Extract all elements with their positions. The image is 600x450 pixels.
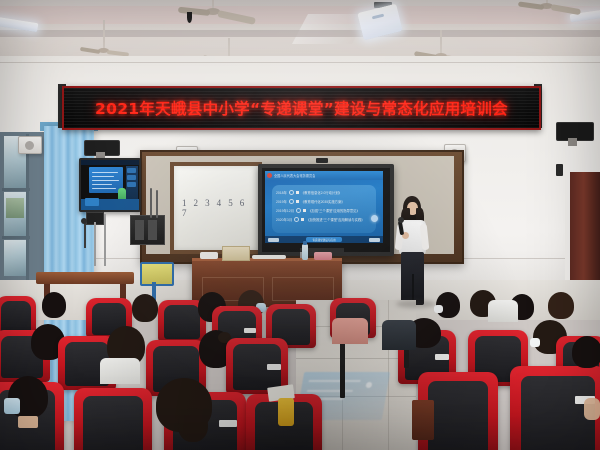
chair-support-post [340,340,345,398]
monitor-text-line [92,176,114,177]
slide-row-bullet-icon [296,208,301,213]
panel-footer-right-chip[interactable] [369,238,380,242]
window-mullion-h2 [2,236,30,239]
rack-slot [148,220,157,240]
monitor-text-line [92,172,118,173]
ceiling-tint [0,6,600,24]
chair-row-c[interactable] [74,388,152,450]
equipment-rack [130,215,165,245]
chair-cushion [428,381,488,450]
panel-top-camera-icon [316,158,328,163]
cable-bundle [150,188,152,218]
monitor-text-line [92,180,119,181]
head-hair [42,292,66,318]
presenter [392,196,436,308]
wall-speaker-left [18,136,42,154]
remote-classroom-monitor[interactable] [79,158,141,212]
camera-mount-right [568,138,577,146]
rack-slot [135,220,144,240]
slide-row: 2020年3月 《加快推进“三个课堂”应用解读与实践》 [272,215,376,224]
slide-row-text: 《加强“三个课堂”应用的指导意见》 [308,208,360,213]
floor-shadow-presenter [396,300,436,308]
podium-water-bottle [302,244,308,260]
reflection-text-line [307,390,353,392]
window-mullion-h [2,188,30,191]
slide-row-year: 2020年3月 [276,217,292,222]
monitor-sidebar-button[interactable] [127,168,136,173]
mic-stand-head-icon [81,218,87,224]
audience-hand [584,398,600,420]
slide-row-text: 《教育信息化2.0行动计划》 [301,190,342,195]
audience-torso [488,300,518,322]
speaker-cone-left [25,141,34,150]
window-pane-bottom [4,240,26,276]
chair-cushion [164,305,200,339]
slide-title-bar: 全国人民代表大会常务委员会 [265,171,383,180]
banner-title-text: 2021年天峨县中小学“专递课堂”建设与常态化应用培训会 [95,97,508,119]
chair-armrest [412,400,434,440]
slide-row-bullet-icon [289,190,294,195]
cable-bundle-2 [156,190,158,218]
podium-bottle-cap [303,241,307,245]
interactive-flat-panel[interactable]: 全国人民代表大会常务委员会 2018年 《教育信息化2.0行动计划》 2019年… [258,164,394,256]
chair-seat-number-tag [435,354,449,360]
panel-footer-left-chip[interactable] [268,238,279,242]
whiteboard[interactable]: 1 2 3 4 5 6 7 [170,162,262,254]
classroom-training-photo: 2021年天峨县中小学“专递课堂”建设与常态化应用培训会 1 2 3 4 5 6… [0,0,600,450]
chair-seat-number-tag [267,364,281,370]
audience-head [130,294,160,326]
slide-row-bullet-icon [289,199,294,204]
face-mask [434,305,443,313]
led-banner: 2021年天峨县中小学“专递课堂”建设与常态化应用培训会 [62,86,541,130]
ceiling-beam [0,30,600,37]
fan-rod-5 [103,20,105,50]
monitor-text-line [92,184,112,185]
slide-logo-icon [267,173,272,178]
audience-yellow-bag [278,398,294,426]
monitor-sidebar-button[interactable] [127,175,136,180]
head-hair [132,294,158,322]
window-foliage [6,198,24,218]
slide-row-bullet-icon [294,217,299,222]
cable-run-b [104,214,106,266]
audience-head [40,292,68,322]
slide-row-text: 《加快推进“三个课堂”应用解读与实践》 [306,217,364,222]
audience-torso [332,318,368,344]
monitor-text-line [92,188,116,189]
chair-cushion [83,396,143,450]
mic-stand-pole [84,222,86,248]
side-table [36,272,134,284]
podium-panel-detail [272,277,334,301]
audience-torso [382,320,416,350]
slide-row-year: 2018年 [276,190,287,195]
slide-row: 2018年 《教育信息化2.0行动计划》 [272,188,376,197]
settings-gear-icon[interactable] [371,215,378,222]
fan-pullchain-weight [187,12,192,23]
audience-head-foreground [4,376,56,450]
slide-content-card: 2018年 《教育信息化2.0行动计划》 2019年 《教育现代化2035实施方… [272,185,376,233]
microphone-head-icon [398,217,404,223]
slide-row: 2019年 《教育现代化2035实施方案》 [272,197,376,206]
slide-title-text: 全国人民代表大会常务委员会 [274,173,315,178]
neck [18,416,38,428]
reflection-gear-icon [365,382,372,388]
monitor-titlebar [81,160,139,165]
monitor-bottom-thumb[interactable] [85,198,99,206]
podium-paper-sheet [252,255,286,259]
panel-footer-button-label: 专递课堂建设与应用 [312,238,335,242]
chair-seat-number-tag [219,420,237,427]
chair-seat-number-tag [244,328,256,333]
podium-document-box [222,246,250,261]
hair-bun [178,408,208,442]
wall-switch-plate [556,164,563,176]
head-hair [572,336,600,368]
whiteboard-writing: 1 2 3 4 5 6 7 [182,198,258,218]
window-mullion-v [26,134,29,280]
panel-footer-button[interactable]: 专递课堂建设与应用 [306,237,342,242]
audience-head-foreground [150,378,220,450]
podium-pink-folder [314,252,332,260]
presenter-arm-right [420,224,430,251]
monitor-sidebar-button[interactable] [127,182,136,187]
panel-footer-bar: 专递课堂建设与应用 [265,236,383,243]
wall-trim-line-upper [0,62,600,63]
audience-head [570,336,600,376]
slide-row: 2019年12月 《加强“三个课堂”应用的指导意见》 [272,206,376,215]
audience-torso [100,358,140,384]
slide-row-square-icon [301,218,304,221]
chair-cushion [1,301,31,333]
cable-run-a [94,222,96,266]
slide-row-year: 2019年 [276,199,287,204]
side-chair-back[interactable] [140,262,174,286]
panel-screen[interactable]: 全国人民代表大会常务委员会 2018年 《教育信息化2.0行动计划》 2019年… [265,171,383,243]
presenter-leg-gap [412,274,414,302]
reflection-text-line [309,380,361,382]
slide-row-square-icon [296,200,299,203]
slide-row-square-icon [296,191,299,194]
face-mask [530,338,540,347]
slide-row-text: 《教育现代化2035实施方案》 [301,199,345,204]
slide-row-square-icon [303,209,306,212]
face-mask [4,398,20,414]
slide-row-year: 2019年12月 [276,208,294,213]
head-hair [548,292,574,319]
podium-papers [200,252,218,259]
